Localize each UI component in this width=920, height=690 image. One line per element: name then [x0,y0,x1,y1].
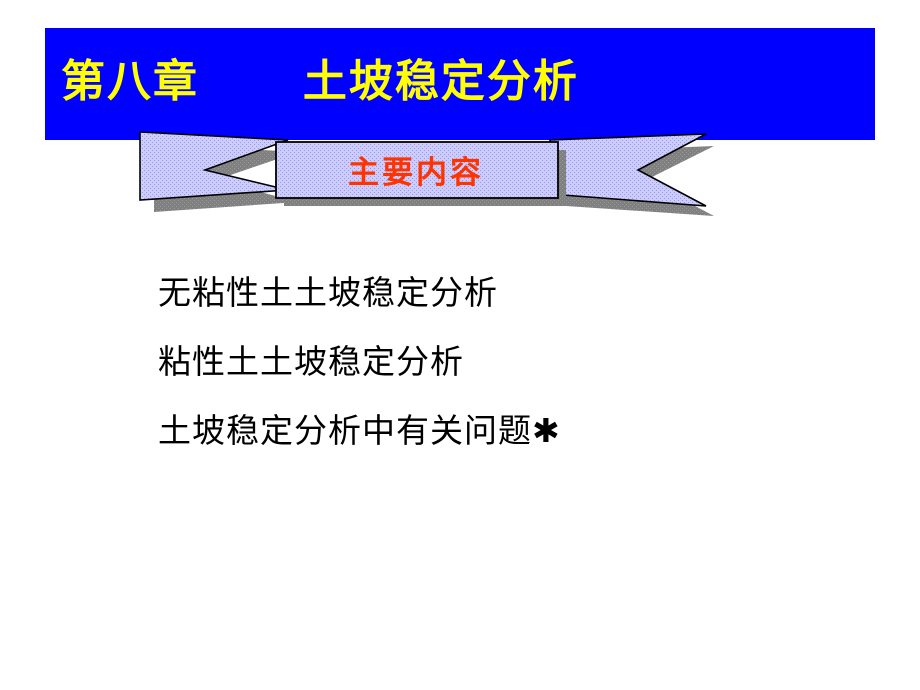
content-list: 无粘性土土坡稳定分析 粘性土土坡稳定分析 土坡稳定分析中有关问题✱ [158,258,858,465]
list-item: 土坡稳定分析中有关问题✱ [158,396,858,465]
ribbon-right-wing [550,134,706,206]
list-item: 无粘性土土坡稳定分析 [158,258,858,327]
title-bar: 第八章 土坡稳定分析 [45,28,875,140]
ribbon-left-wing [140,132,288,200]
slide-canvas: 第八章 土坡稳定分析 [0,0,920,690]
ribbon-banner: 主要内容 [110,128,750,228]
ribbon-shape [110,128,750,228]
page-title: 第八章 土坡稳定分析 [61,56,859,108]
list-item: 粘性土土坡稳定分析 [158,327,858,396]
ribbon-center-box [276,142,558,198]
